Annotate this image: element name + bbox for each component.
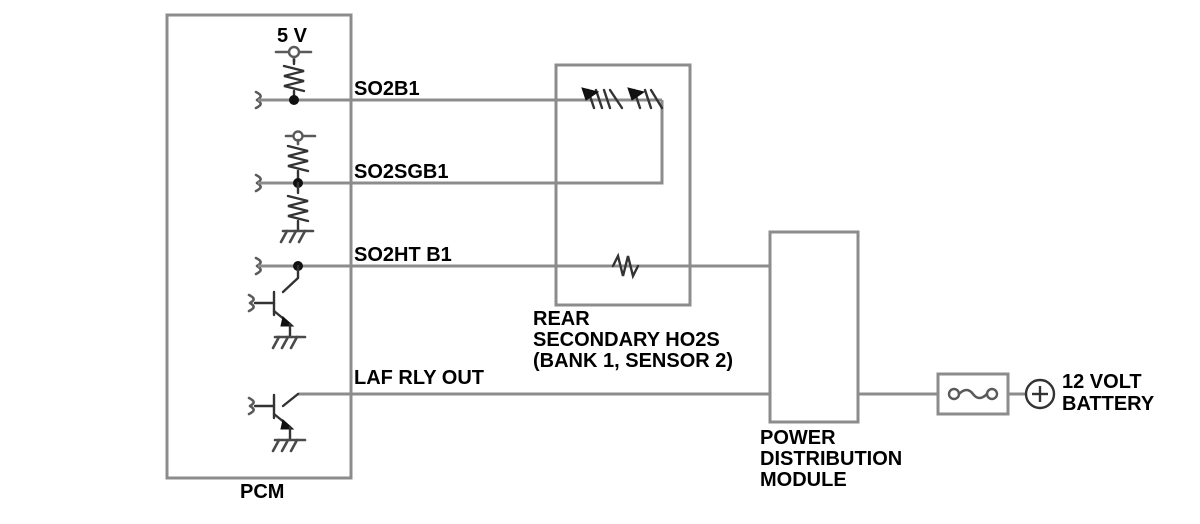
supply-label-5v: 5 V (277, 25, 308, 47)
pdm-caption-line1: POWER (760, 427, 836, 449)
zener-diode-icon (582, 88, 622, 108)
chassis-ground-icon-2 (273, 337, 305, 348)
five-volt-supply-icon (276, 47, 311, 61)
battery-terminal-icon (1026, 380, 1054, 408)
fuse-icon (949, 389, 997, 399)
sensor-caption-line2: SECONDARY HO2S (533, 329, 720, 351)
signal-label-so2sgb1: SO2SGB1 (354, 161, 448, 183)
sensor-caption-line3: (BANK 1, SENSOR 2) (533, 350, 733, 372)
divider-resistor-bottom-icon (288, 183, 308, 231)
schematic-canvas: SO2B1 SO2SGB1 SO2HT B1 (0, 0, 1200, 524)
pdm-caption-line2: DISTRIBUTION (760, 448, 902, 470)
chassis-ground-icon-3 (273, 440, 305, 451)
signal-label-lafrlyout: LAF RLY OUT (354, 367, 484, 389)
pcm-label: PCM (240, 481, 284, 503)
divider-resistor-top-icon (288, 146, 308, 183)
five-volt-supply-icon-2 (286, 132, 315, 145)
signal-label-so2htb1: SO2HT B1 (354, 244, 452, 266)
battery-caption-line2: BATTERY (1062, 393, 1155, 415)
battery-caption-line1: 12 VOLT (1062, 371, 1142, 393)
circuit-diagram: SO2B1 SO2SGB1 SO2HT B1 (0, 0, 1200, 524)
diode-icon (628, 88, 662, 108)
pcm-box (167, 15, 351, 478)
wire-sensor-internal-loop (556, 100, 662, 183)
npn-transistor-relay-icon (249, 394, 298, 440)
pullup-resistor-icon (284, 60, 304, 100)
signal-label-so2b1: SO2B1 (354, 78, 420, 100)
chassis-ground-icon-1 (281, 231, 313, 242)
sensor-caption-line1: REAR (533, 308, 590, 330)
power-distribution-module-box (770, 232, 858, 422)
pdm-caption-line3: MODULE (760, 469, 847, 491)
junction-so2b1 (289, 95, 299, 105)
npn-transistor-heater-icon (249, 266, 298, 337)
connector-transistor-base-icon-2 (249, 398, 254, 414)
connector-transistor-base-icon (249, 295, 254, 311)
